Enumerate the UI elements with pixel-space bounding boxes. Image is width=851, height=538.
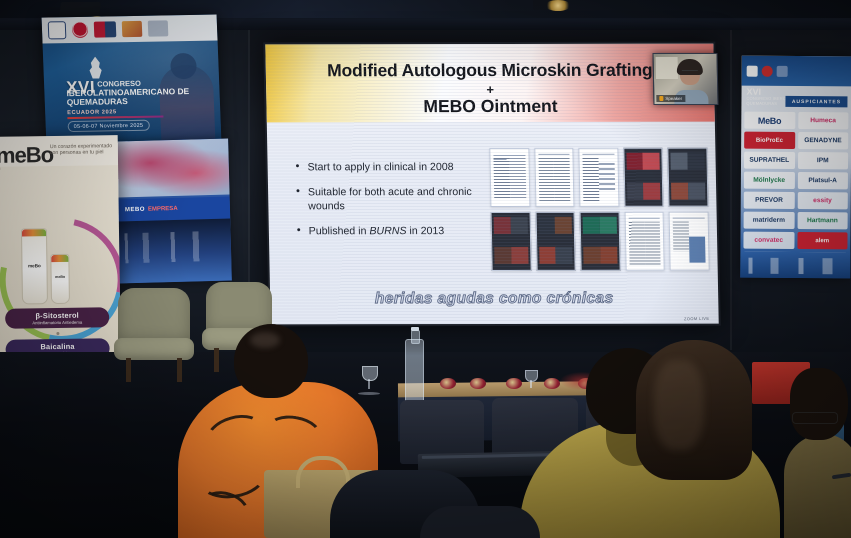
rollup-tagline: Un corazón experimentado con personas en…: [50, 143, 116, 157]
rollup-separator-dot: [56, 332, 59, 335]
person-shoulders: [784, 434, 851, 538]
webcam-participant-name: Speaker: [665, 95, 682, 102]
floral-centerpiece: [470, 378, 486, 389]
bullet-text-before: Published in: [309, 225, 370, 237]
article-thumbnail: [489, 148, 530, 207]
bullet-item: • Suitable for both acute and chronic wo…: [296, 185, 487, 213]
article-thumbnail-photos: [668, 148, 709, 207]
congress-country-year: ECUADOR 2025: [67, 109, 117, 116]
webcam-thumbnail[interactable]: Speaker: [652, 53, 718, 105]
sponsor-header-logo-2-icon: [762, 65, 773, 76]
sponsor-logo: SUPRATHEL: [744, 152, 795, 169]
slide-title-line1: Modified Autologous Microskin Grafting: [266, 60, 714, 82]
article-thumbnail-photos: [623, 148, 664, 207]
bullet-marker: •: [296, 185, 300, 213]
article-thumbnail: [579, 148, 620, 207]
audience-member-bottom-center: [420, 506, 540, 538]
bullet-marker: •: [297, 224, 301, 238]
bullet-text-after: in 2013: [406, 225, 444, 237]
slide-footer-handwriting: heridas agudas como crónicas: [270, 290, 718, 309]
ingredient-pill-sitosterol: β-Sitosterol Antiinflamatorio Antiedema: [5, 307, 109, 328]
article-thumbnail-grid: [489, 148, 709, 271]
sponsor-banner: XVI CONGRESO IBEROLATINOAMERICANO DE QUE…: [740, 56, 851, 279]
eyeglasses-icon: [682, 70, 698, 75]
screen-watermark: ZOOM LIVE: [684, 316, 709, 321]
webcam-window-light: [656, 57, 678, 79]
product-tube-large: meBo: [21, 228, 48, 304]
secondary-display: MEBO EMPRESA: [116, 139, 232, 284]
tube-cap: [22, 229, 46, 236]
article-thumbnail: [669, 212, 710, 271]
hair-highlight: [250, 332, 280, 348]
sponsor-logo: PREVOR: [744, 192, 795, 209]
side-screen-brand: MEBO: [125, 207, 145, 214]
water-bottle: [405, 339, 424, 404]
webcam-name-label: Speaker: [656, 95, 685, 102]
article-thumbnail: [534, 148, 575, 207]
bullet-item: • Start to apply in clinical in 2008: [296, 160, 486, 174]
tube-label: meBo: [54, 275, 67, 283]
article-thumbnail-photos: [491, 212, 532, 271]
microphone-icon: [659, 96, 663, 101]
sponsor-logo: Humeca: [798, 112, 849, 129]
eyeglasses-icon: [792, 412, 838, 424]
bullet-text-italic: BURNS: [369, 225, 406, 237]
auspiciantes-label: AUSPICIANTES: [785, 96, 847, 107]
bullet-text: Start to apply in clinical in 2008: [307, 160, 453, 174]
sponsor-logo: alem: [797, 232, 848, 249]
sponsor-header-logo-1-icon: [747, 65, 758, 76]
bullet-text-composite: Published in BURNS in 2013: [309, 224, 445, 238]
bullet-item: • Published in BURNS in 2013: [297, 224, 487, 238]
ingredient-effect: Antiinflamatorio Antiedema: [5, 319, 109, 325]
side-screen-skyline-bg: [118, 219, 232, 284]
conference-photo-scene: XVI CONGRESO IBEROLATINOAMERICANO DE QUE…: [0, 0, 851, 538]
product-tube-small: meBo: [50, 254, 70, 304]
sponsor-skyline: [740, 252, 850, 279]
side-screen-skyline: [119, 231, 232, 264]
sponsor-logo: essity: [797, 192, 848, 209]
tube-label: meBo: [24, 263, 44, 271]
side-screen-image: [116, 139, 229, 198]
sponsor-logo: GENADYNE: [798, 132, 849, 149]
side-screen-brand-red: EMPRESA: [148, 206, 178, 213]
hair-highlight: [654, 360, 704, 450]
sponsor-logo: MeBo: [744, 112, 795, 129]
sponsor-logo: matriderm: [744, 212, 795, 229]
spotlight-icon-right: [545, 0, 571, 11]
sponsor-logo-grid: MeBo Humeca BioProEc GENADYNE SUPRATHEL …: [743, 112, 848, 270]
sponsor-logo: convatec: [743, 232, 794, 249]
sponsor-banner-header: [742, 56, 851, 87]
presentation-slide: Modified Autologous Microskin Grafting +…: [265, 44, 718, 325]
article-thumbnail-photos: [535, 212, 576, 271]
bullet-text: Suitable for both acute and chronic woun…: [308, 185, 487, 213]
floral-centerpiece: [440, 378, 456, 389]
congress-name: IBEROLATINOAMERICANO DE QUEMADURAS: [66, 87, 207, 107]
article-thumbnail: [624, 212, 665, 271]
audience-member-long-hair: [636, 340, 766, 490]
sponsor-logo: Hartmann: [797, 212, 848, 229]
congress-banner: XVI CONGRESO IBEROLATINOAMERICANO DE QUE…: [42, 15, 222, 146]
sponsor-header-logo-3-icon: [777, 65, 788, 76]
rollup-brand: meBo: [0, 142, 53, 169]
rollup-trademark: ®: [0, 167, 1, 171]
chair-leg: [126, 358, 131, 382]
sponsor-logo: BioProEc: [744, 132, 795, 149]
tube-cap: [51, 255, 68, 262]
side-screen-banner: MEBO EMPRESA: [118, 197, 231, 222]
congress-dates: 05-06-07 Noviembre 2025: [68, 120, 150, 132]
article-thumbnail-photos: [580, 212, 621, 271]
wall-seam-right: [730, 30, 732, 350]
sponsor-logo: IPM: [797, 152, 848, 169]
sponsor-logo: Mölnlycke: [744, 172, 795, 189]
bullet-marker: •: [296, 160, 300, 174]
person-head: [790, 368, 848, 440]
slide-title-line2: MEBO Ointment: [266, 96, 714, 118]
slide-bullet-list: • Start to apply in clinical in 2008 • S…: [296, 160, 488, 249]
audience-member-right: [790, 368, 851, 538]
sponsor-logo: Platsul-A: [797, 172, 848, 189]
